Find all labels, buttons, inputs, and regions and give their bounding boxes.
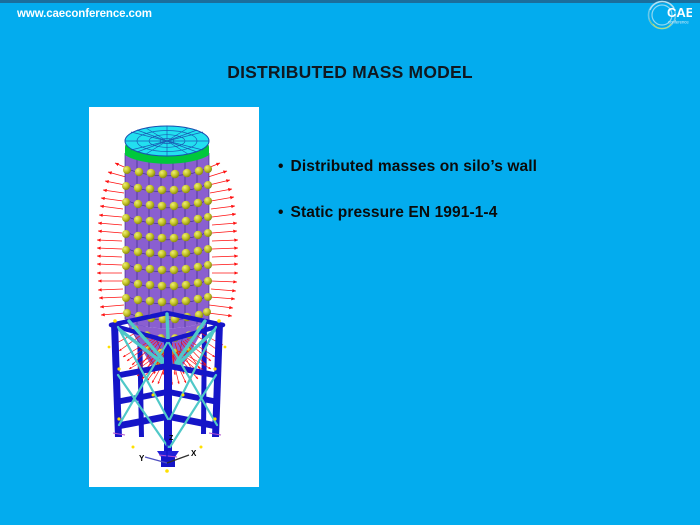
presentation-slide: www.caeconference.com CAE conference DIS… [0, 0, 700, 525]
page-title: DISTRIBUTED MASS MODEL [0, 62, 700, 83]
bullet-marker-icon: • [278, 204, 284, 222]
top-accent-band [0, 0, 700, 3]
axis-label-x: X [191, 449, 197, 458]
list-item: •Distributed masses on silo’s wall [278, 158, 678, 176]
fea-model-figure: Y X Z [89, 107, 259, 487]
silo-wall [125, 153, 209, 334]
bullet-text: Static pressure EN 1991-1-4 [291, 204, 498, 221]
list-item: •Static pressure EN 1991-1-4 [278, 204, 678, 222]
axis-label-z: Z [169, 435, 174, 442]
bullet-list: •Distributed masses on silo’s wall •Stat… [278, 158, 678, 250]
cae-conference-logo: CAE conference [640, 0, 692, 32]
bullet-marker-icon: • [278, 158, 284, 176]
logo-subtitle: conference [668, 20, 689, 25]
silo-roof-mesh [125, 126, 209, 156]
bullet-text: Distributed masses on silo’s wall [291, 158, 538, 175]
logo-text: CAE [667, 5, 692, 20]
axis-label-y: Y [139, 454, 145, 463]
header-website-url: www.caeconference.com [17, 8, 152, 20]
